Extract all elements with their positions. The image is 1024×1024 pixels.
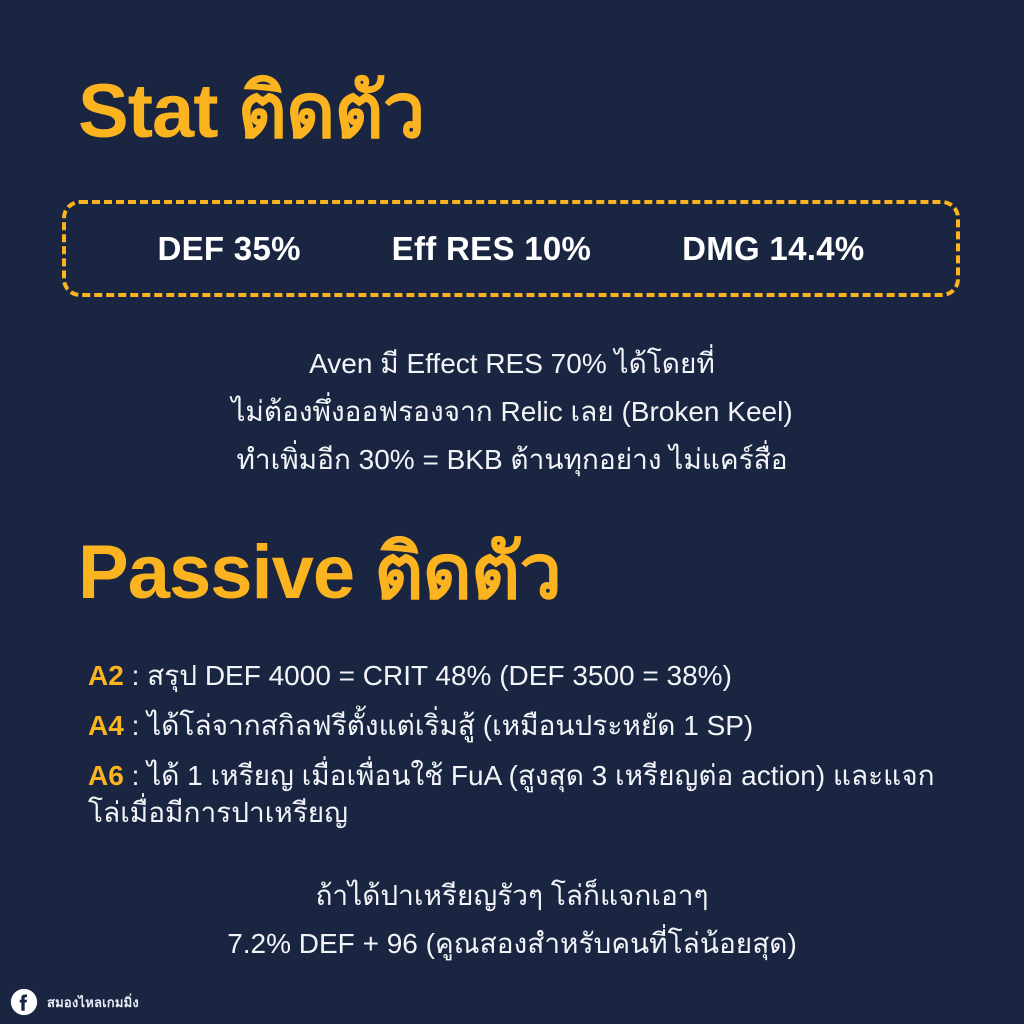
footer-credit: สมองไหลเกมมิ่ง — [10, 988, 139, 1016]
passive-text-a2: สรุป DEF 4000 = CRIT 48% (DEF 3500 = 38%… — [147, 660, 732, 691]
note-paragraph: Aven มี Effect RES 70% ได้โดยที่ ไม่ต้อง… — [0, 340, 1024, 484]
passive-row-a4: A4 : ได้โล่จากสกิลฟรีตั้งแต่เริ่มสู้ (เห… — [88, 708, 944, 745]
page-title-passive: Passive ติดตัว — [78, 535, 561, 611]
infographic-canvas: Stat ติดตัว DEF 35% Eff RES 10% DMG 14.4… — [0, 0, 1024, 1024]
footnote-paragraph: ถ้าได้ปาเหรียญรัวๆ โล่ก็แจกเอาๆ 7.2% DEF… — [0, 872, 1024, 968]
page-title-stat: Stat ติดตัว — [78, 74, 424, 150]
stat-item-eff-res: Eff RES 10% — [392, 230, 592, 268]
stat-item-dmg: DMG 14.4% — [682, 230, 864, 268]
passive-text-a6: ได้ 1 เหรียญ เมื่อเพื่อนใช้ FuA (สูงสุด … — [88, 760, 935, 828]
footer-label: สมองไหลเกมมิ่ง — [47, 992, 139, 1013]
facebook-icon — [10, 988, 38, 1016]
passive-code-a2: A2 — [88, 660, 124, 691]
passive-code-a4: A4 — [88, 710, 124, 741]
passive-text-a4: ได้โล่จากสกิลฟรีตั้งแต่เริ่มสู้ (เหมือนป… — [147, 710, 753, 741]
footnote-line-2: 7.2% DEF + 96 (คูณสองสำหรับคนที่โล่น้อยส… — [0, 920, 1024, 968]
note-line-3: ทำเพิ่มอีก 30% = BKB ต้านทุกอย่าง ไม่แคร… — [0, 436, 1024, 484]
passive-list: A2 : สรุป DEF 4000 = CRIT 48% (DEF 3500 … — [88, 658, 944, 845]
passive-row-a6: A6 : ได้ 1 เหรียญ เมื่อเพื่อนใช้ FuA (สู… — [88, 758, 944, 832]
passive-row-a2: A2 : สรุป DEF 4000 = CRIT 48% (DEF 3500 … — [88, 658, 944, 695]
footnote-line-1: ถ้าได้ปาเหรียญรัวๆ โล่ก็แจกเอาๆ — [0, 872, 1024, 920]
passive-code-a6: A6 — [88, 760, 124, 791]
passive-separator: : — [124, 710, 147, 741]
stat-summary-box: DEF 35% Eff RES 10% DMG 14.4% — [62, 200, 960, 297]
passive-separator: : — [124, 760, 147, 791]
note-line-1: Aven มี Effect RES 70% ได้โดยที่ — [0, 340, 1024, 388]
stat-item-def: DEF 35% — [157, 230, 300, 268]
passive-separator: : — [124, 660, 147, 691]
note-line-2: ไม่ต้องพึ่งออฟรองจาก Relic เลย (Broken K… — [0, 388, 1024, 436]
